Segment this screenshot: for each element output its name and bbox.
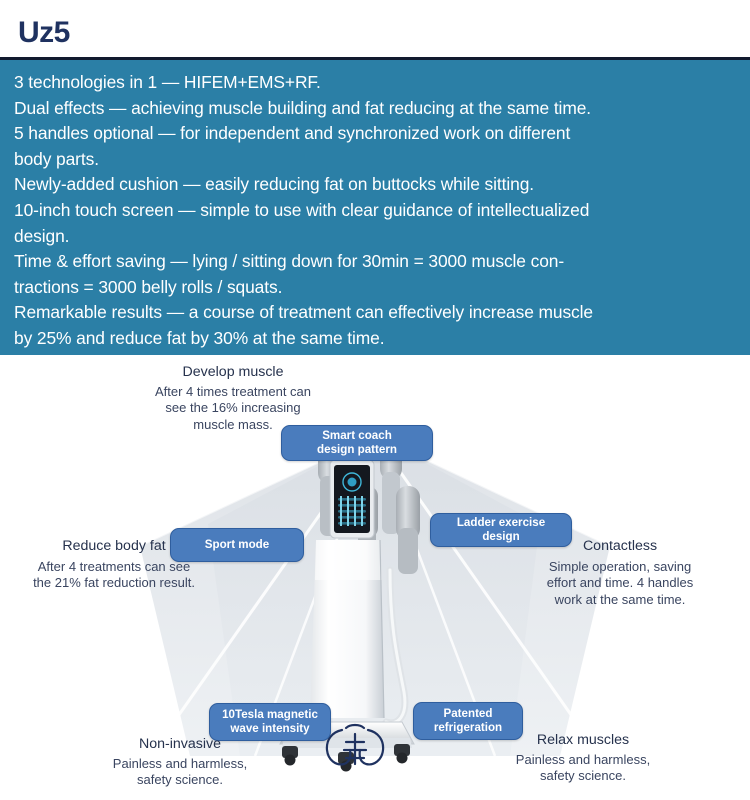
- feature-line: Newly-added cushion — easily reducing fa…: [14, 172, 736, 198]
- feature-line: 3 technologies in 1 — HIFEM+EMS+RF.: [14, 70, 736, 96]
- feature-contactless: Contactless Simple operation, saving eff…: [520, 538, 720, 608]
- feature-body: After 4 times treatment can see the 16% …: [133, 384, 333, 433]
- feature-text-band: 3 technologies in 1 — HIFEM+EMS+RF. Dual…: [0, 60, 750, 355]
- touch-screen: [330, 460, 374, 538]
- feature-line: Time & effort saving — lying / sitting d…: [14, 249, 736, 300]
- feature-develop-muscle: Develop muscle After 4 times treatment c…: [133, 364, 333, 433]
- handle-front-right: [396, 486, 420, 574]
- feature-body: Simple operation, saving effort and time…: [520, 559, 720, 608]
- feature-heading: Relax muscles: [488, 732, 678, 749]
- feature-heading: Develop muscle: [133, 364, 333, 381]
- feature-line: Remarkable results — a course of treatme…: [14, 300, 736, 351]
- feature-reduce-body-fat: Reduce body fat After 4 treatments can s…: [14, 538, 214, 592]
- feature-body: Painless and harmless, safety science.: [85, 756, 275, 789]
- feature-heading: Contactless: [520, 538, 720, 555]
- feature-heading: Reduce body fat: [14, 538, 214, 555]
- page-title: Uz5: [18, 18, 70, 48]
- feature-body: Painless and harmless, safety science.: [488, 752, 678, 785]
- feature-line: Dual effects — achieving muscle building…: [14, 96, 736, 122]
- feature-line: 5 handles optional — for independent and…: [14, 121, 736, 172]
- feature-heading: Non-invasive: [85, 736, 275, 753]
- feature-non-invasive: Non-invasive Painless and harmless, safe…: [85, 736, 275, 789]
- feature-line: 10-inch touch screen — simple to use wit…: [14, 198, 736, 249]
- feature-relax-muscles: Relax muscles Painless and harmless, saf…: [488, 732, 678, 785]
- feature-body: After 4 treatments can see the 21% fat r…: [14, 559, 214, 592]
- page-header: Uz5: [0, 0, 750, 58]
